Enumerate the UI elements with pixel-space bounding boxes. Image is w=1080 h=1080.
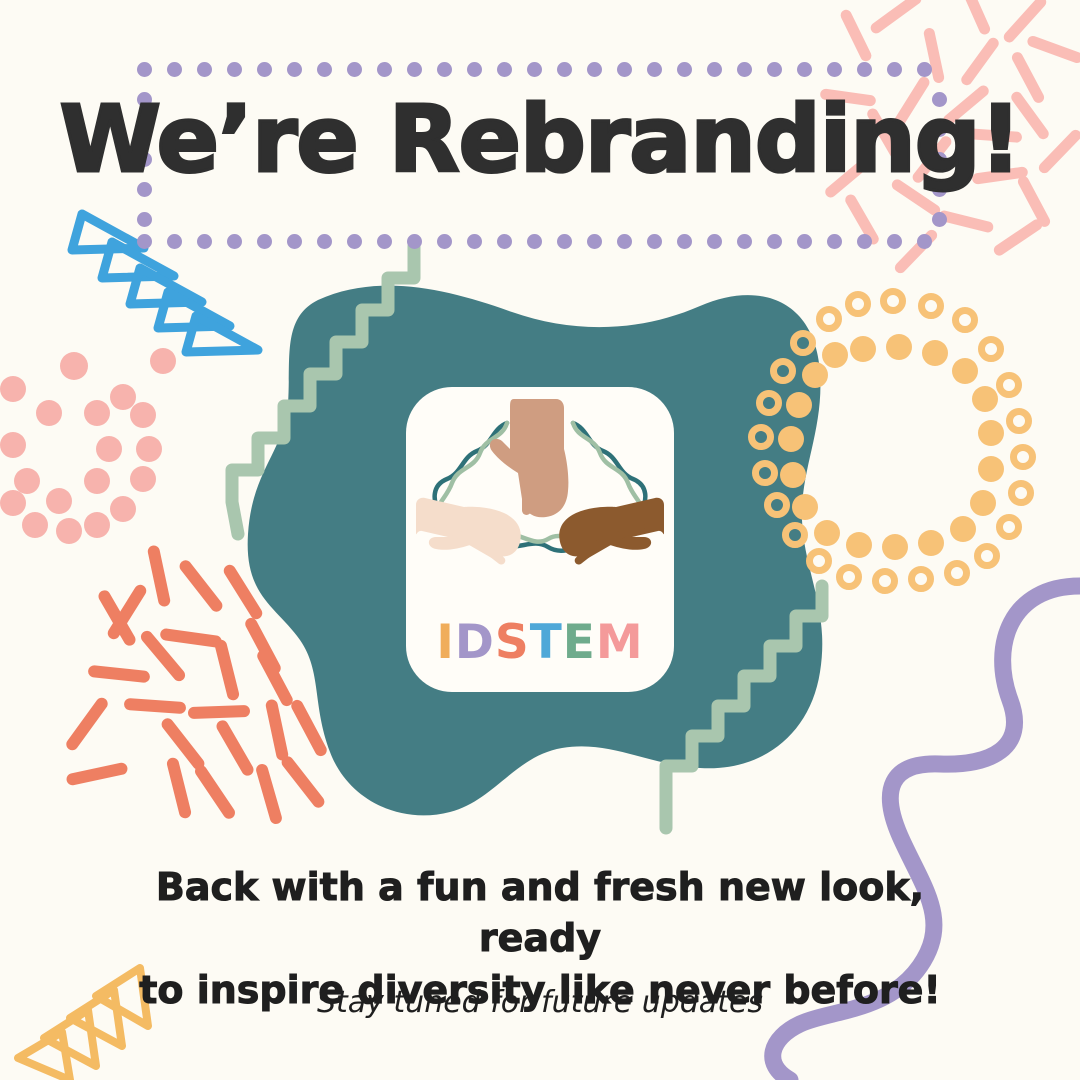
pink-sprinkle	[959, 36, 1001, 88]
coral-sprinkle	[265, 698, 290, 761]
orange-ring	[872, 568, 898, 594]
frame-dot	[197, 62, 212, 77]
frame-dot	[227, 62, 242, 77]
dna-helix-right	[573, 423, 645, 511]
frame-dot	[227, 234, 242, 249]
hand-right	[559, 498, 664, 566]
pink-dot	[150, 348, 176, 374]
brand-letter: I	[436, 615, 455, 670]
pink-sprinkle	[992, 217, 1045, 257]
orange-ring	[790, 330, 816, 356]
frame-dot	[287, 62, 302, 77]
hand-top	[490, 399, 569, 517]
orange-dot	[882, 534, 908, 560]
frame-dot	[707, 62, 722, 77]
frame-dot	[887, 234, 902, 249]
orange-dot	[922, 340, 948, 366]
blue-triangle	[72, 214, 144, 250]
brand-letter: M	[596, 615, 644, 670]
coral-sprinkle	[193, 763, 238, 821]
frame-dot	[587, 234, 602, 249]
orange-ring	[770, 358, 796, 384]
frame-dot	[407, 234, 422, 249]
pink-dot	[96, 436, 122, 462]
poster-canvas: IDSTEM We’re Rebranding! Back with a fun…	[0, 0, 1080, 1080]
orange-dot	[972, 386, 998, 412]
orange-ring	[918, 293, 944, 319]
frame-dot	[137, 234, 152, 249]
frame-dot	[317, 234, 332, 249]
orange-ring	[974, 543, 1000, 569]
coral-sprinkle	[214, 718, 255, 778]
pink-sprinkle	[893, 228, 940, 276]
frame-dot	[677, 234, 692, 249]
orange-dot	[978, 456, 1004, 482]
orange-ring	[1006, 408, 1032, 434]
frame-dot	[527, 62, 542, 77]
pink-dot	[0, 490, 26, 516]
frame-dot	[137, 62, 152, 77]
brand-letter: E	[563, 615, 596, 670]
orange-ring	[836, 564, 862, 590]
frame-dot	[737, 234, 752, 249]
frame-dot	[917, 62, 932, 77]
coral-sprinkle	[147, 544, 172, 607]
brand-letter: D	[455, 615, 495, 670]
coral-sprinkle	[214, 638, 241, 701]
coral-sprinkle	[96, 588, 137, 648]
pink-sprinkle	[839, 8, 873, 63]
pink-dot	[56, 518, 82, 544]
coral-sprinkle	[243, 616, 283, 676]
orange-dot	[814, 520, 840, 546]
orange-ring	[748, 424, 774, 450]
frame-dot	[257, 234, 272, 249]
pink-sprinkle	[958, 0, 992, 36]
frame-dot	[737, 62, 752, 77]
frame-dot	[317, 62, 332, 77]
pink-dot	[84, 512, 110, 538]
frame-dot	[347, 62, 362, 77]
coral-sprinkle	[188, 705, 250, 719]
logo-card: IDSTEM	[406, 387, 674, 692]
frame-dot	[497, 62, 512, 77]
frame-dot	[497, 234, 512, 249]
pink-dot	[110, 496, 136, 522]
pink-dot	[84, 400, 110, 426]
orange-ring	[880, 288, 906, 314]
frame-dot	[407, 62, 422, 77]
frame-dot	[677, 62, 692, 77]
coral-sprinkle	[255, 648, 295, 708]
coral-sprinkle	[289, 698, 329, 758]
frame-dot	[797, 234, 812, 249]
brand-letter: S	[495, 615, 530, 670]
orange-dot	[952, 358, 978, 384]
frame-dot	[857, 234, 872, 249]
orange-ring	[1010, 444, 1036, 470]
frame-dot	[167, 234, 182, 249]
orange-dot	[792, 494, 818, 520]
frame-dot	[887, 62, 902, 77]
frame-dot	[767, 62, 782, 77]
coral-sprinkle	[159, 716, 207, 772]
page-title: We’re Rebranding!	[0, 92, 1080, 189]
blue-triangle	[158, 292, 230, 328]
pink-sprinkle	[938, 209, 995, 233]
orange-triangle	[18, 1032, 70, 1080]
frame-dot	[377, 62, 392, 77]
orange-ring	[1008, 480, 1034, 506]
frame-dot	[557, 234, 572, 249]
pink-dot	[0, 376, 26, 402]
sage-zigzag-left	[232, 246, 414, 534]
orange-dot	[780, 462, 806, 488]
coral-sprinkle	[159, 628, 222, 649]
orange-dot	[918, 530, 944, 556]
frame-dot	[557, 62, 572, 77]
pink-sprinkle	[868, 0, 923, 36]
frame-dot	[827, 62, 842, 77]
orange-ring	[782, 522, 808, 548]
orange-dot	[778, 426, 804, 452]
coral-sprinkle	[124, 698, 187, 714]
orange-triangle	[44, 1010, 96, 1066]
orange-dot	[802, 362, 828, 388]
frame-dot	[707, 234, 722, 249]
subline-text: Stay tuned for future updates	[90, 985, 990, 1020]
dna-helix-left	[435, 423, 507, 511]
frame-dot	[377, 234, 392, 249]
frame-dot	[587, 62, 602, 77]
orange-dot	[786, 392, 812, 418]
orange-ring	[978, 336, 1004, 362]
frame-dot	[347, 234, 362, 249]
logo-emblem	[406, 387, 674, 637]
orange-ring	[764, 492, 790, 518]
frame-dot	[137, 212, 152, 227]
pink-sprinkle	[923, 27, 945, 84]
pink-sprinkle	[1026, 34, 1080, 64]
brand-letter: T	[530, 615, 563, 670]
frame-dot	[287, 234, 302, 249]
orange-dot	[978, 420, 1004, 446]
coral-sprinkle	[64, 695, 110, 752]
frame-dot	[437, 234, 452, 249]
coral-sprinkle	[221, 563, 264, 622]
pink-dot	[14, 468, 40, 494]
orange-ring	[845, 291, 871, 317]
coral-sprinkle	[279, 754, 327, 810]
frame-dot	[917, 234, 932, 249]
coral-sprinkle	[105, 583, 148, 642]
frame-dot	[167, 62, 182, 77]
coral-sprinkle	[65, 762, 128, 787]
pink-dot	[136, 436, 162, 462]
orange-dot	[850, 336, 876, 362]
coral-sprinkle	[177, 558, 225, 614]
blue-triangle-cascade	[72, 214, 258, 352]
orange-ring	[996, 514, 1022, 540]
pink-dot	[84, 468, 110, 494]
orange-dot	[846, 532, 872, 558]
coral-sprinkle	[88, 665, 151, 683]
hand-left	[416, 498, 521, 566]
brand-wordmark: IDSTEM	[406, 615, 674, 670]
frame-dot	[857, 62, 872, 77]
frame-dot	[647, 62, 662, 77]
orange-ring	[752, 460, 778, 486]
pink-dot	[22, 512, 48, 538]
coral-sprinkle	[138, 628, 187, 683]
orange-dot	[970, 490, 996, 516]
frame-dot	[437, 62, 452, 77]
orange-ring	[806, 548, 832, 574]
coral-sprinkle	[255, 763, 284, 826]
orange-ring	[908, 566, 934, 592]
tagline-line-1: Back with a fun and fresh new look, read…	[90, 862, 990, 965]
pink-dot	[130, 402, 156, 428]
pink-dot	[110, 384, 136, 410]
orange-ring	[756, 390, 782, 416]
frame-dot	[932, 212, 947, 227]
frame-dot	[527, 234, 542, 249]
frame-dot	[767, 234, 782, 249]
sage-zigzag-right	[666, 586, 822, 828]
orange-ring	[996, 372, 1022, 398]
pink-dot	[46, 488, 72, 514]
blue-triangle	[102, 242, 174, 278]
coral-sprinkle	[166, 756, 193, 819]
frame-dot	[617, 62, 632, 77]
pink-dot	[0, 432, 26, 458]
pink-dot	[60, 352, 88, 380]
orange-dot	[950, 516, 976, 542]
frame-dot	[257, 62, 272, 77]
frame-dot	[197, 234, 212, 249]
frame-dot	[647, 234, 662, 249]
orange-ring	[816, 306, 842, 332]
frame-dot	[467, 234, 482, 249]
orange-dot	[822, 342, 848, 368]
frame-dot	[617, 234, 632, 249]
blue-triangle	[186, 316, 258, 352]
frame-dot	[827, 234, 842, 249]
blue-triangle	[130, 268, 202, 304]
pink-sprinkle	[843, 193, 881, 247]
orange-ring	[952, 307, 978, 333]
orange-dot	[886, 334, 912, 360]
frame-dot	[467, 62, 482, 77]
frame-dot	[797, 62, 812, 77]
pink-sprinkle	[1002, 0, 1049, 45]
pink-dot	[36, 400, 62, 426]
orange-ring	[944, 560, 970, 586]
pink-dot	[130, 466, 156, 492]
